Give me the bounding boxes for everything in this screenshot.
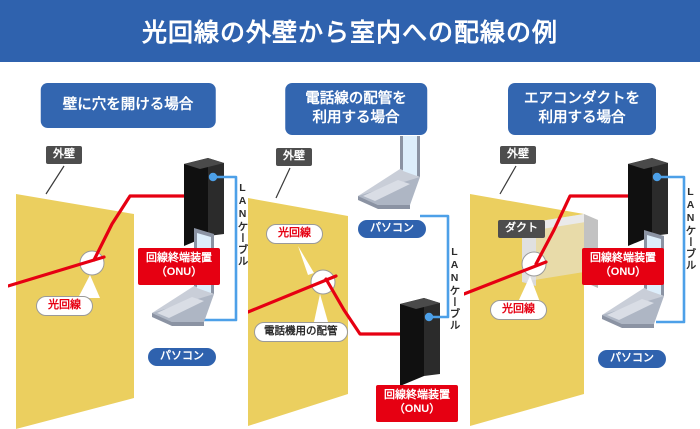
lan-cable-label: LANケーブル (449, 246, 460, 331)
pc-label-chip: パソコン (148, 348, 216, 366)
lan-cable-label-text: LANケーブル (237, 182, 249, 267)
panel-1-heading-line-1: 壁に穴を開ける場合 (63, 97, 194, 113)
wall-label-text: 外壁 (283, 150, 305, 162)
wall-label-text: 外壁 (53, 148, 75, 160)
duct-label-chip: ダクト (498, 220, 545, 238)
conduit-label-text: 電話機用の配管 (264, 325, 338, 337)
wall-leader-line (46, 166, 64, 194)
onu-body-side (208, 158, 224, 236)
onu-label-chip: 回線終端装置 （ONU） (582, 248, 664, 285)
wall-label-chip: 外壁 (500, 146, 536, 164)
panel-2-heading-line-1: 電話線の配管を (305, 90, 407, 109)
pc-label-text: パソコン (370, 222, 414, 234)
onu-label-line-2: （ONU） (384, 403, 450, 417)
panel-phone-conduit: 電話線の配管を 利用する場合 (248, 62, 464, 429)
onu-label-line-2: （ONU） (590, 266, 656, 280)
lan-cable-label: LANケーブル (685, 186, 696, 271)
onu-label-line-1: 回線終端装置 (384, 389, 450, 403)
onu-body-side (652, 158, 668, 236)
panel-hole-in-wall: 壁に穴を開ける場合 (8, 62, 248, 429)
pc-label-chip: パソコン (358, 220, 426, 238)
conduit-label-chip: 電話機用の配管 (254, 322, 348, 342)
page-title-bar: 光回線の外壁から室内への配線の例 (0, 0, 700, 62)
wall-label-text: 外壁 (507, 148, 529, 160)
pc-label-text: パソコン (610, 352, 654, 364)
wall-label-chip: 外壁 (46, 146, 82, 164)
lan-cable-label-text: LANケーブル (449, 246, 461, 331)
page-title: 光回線の外壁から室内への配線の例 (142, 13, 558, 49)
onu-label-line-1: 回線終端装置 (590, 252, 656, 266)
fiber-label-chip: 光回線 (266, 224, 323, 244)
panel-2-diagram: 外壁 光回線 電話機用の配管 パソコン LANケーブル 回線終端装置 （ONU） (248, 136, 464, 429)
fiber-label-chip: 光回線 (490, 300, 547, 320)
panel-2-heading: 電話線の配管を 利用する場合 (285, 83, 427, 135)
panel-3-heading-line-2: 利用する場合 (524, 109, 640, 128)
wall-label-chip: 外壁 (276, 148, 312, 166)
onu-label-chip: 回線終端装置 （ONU） (376, 385, 458, 422)
duct-label-text: ダクト (505, 222, 538, 234)
pc-label-chip: パソコン (598, 350, 666, 368)
laptop-illustration (358, 136, 420, 209)
infographic-page: 光回線の外壁から室内への配線の例 壁に穴を開ける場合 (0, 0, 700, 429)
pc-label-text: パソコン (160, 350, 204, 362)
wall-leader-line (500, 166, 516, 194)
fiber-label-chip: 光回線 (36, 296, 93, 316)
panel-1-heading: 壁に穴を開ける場合 (41, 83, 216, 128)
panel-2-heading-line-2: 利用する場合 (305, 109, 407, 128)
panel-1-diagram: 外壁 光回線 回線終端装置 （ONU） LANケーブル パソコン (8, 136, 248, 429)
lan-cable-label-text: LANケーブル (685, 186, 697, 271)
panels-container: 壁に穴を開ける場合 (0, 62, 700, 429)
panel-3-diagram: 外壁 ダクト 光回線 回線終端装置 （ONU） LANケーブル パソコン (464, 136, 700, 429)
panel-3-heading: エアコンダクトを 利用する場合 (508, 83, 656, 135)
fiber-label-text: 光回線 (502, 303, 535, 315)
panel-3-heading-line-1: エアコンダクトを (524, 90, 640, 109)
wall-leader-line (276, 168, 290, 198)
fiber-label-text: 光回線 (278, 227, 311, 239)
onu-label-chip: 回線終端装置 （ONU） (138, 248, 220, 285)
onu-label-line-2: （ONU） (146, 266, 212, 280)
onu-body-side (424, 298, 440, 376)
lan-cable-label: LANケーブル (237, 182, 248, 267)
onu-label-line-1: 回線終端装置 (146, 252, 212, 266)
panel-aircon-duct: エアコンダクトを 利用する場合 (464, 62, 700, 429)
onu-body-front (400, 298, 424, 386)
fiber-label-text: 光回線 (48, 299, 81, 311)
